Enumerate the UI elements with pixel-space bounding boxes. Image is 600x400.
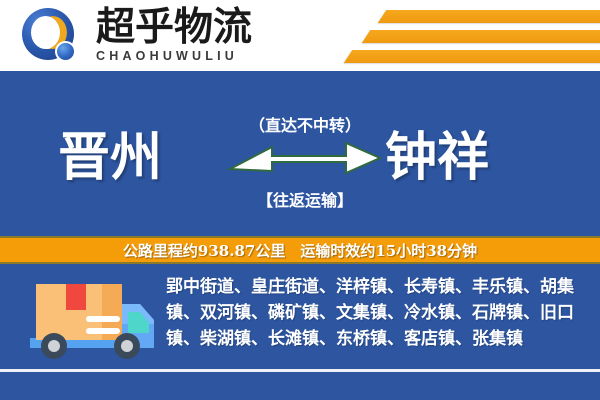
origin-city: 晋州 [58, 130, 162, 186]
coverage-areas-text: 郢中街道、皇庄街道、洋梓镇、长寿镇、丰乐镇、胡集镇、双河镇、磷矿镇、文集镇、冷水… [166, 274, 590, 352]
logo-crescent-cutout [31, 16, 60, 49]
route-section: 晋州 （直达不中转） 【往返运输】 钟祥 [0, 71, 600, 236]
destination-city: 钟祥 [385, 130, 489, 186]
brand-block: 超乎物流 CHAOHUWULIU [96, 7, 266, 63]
route-caption-bottom: 【往返运输】 [232, 187, 378, 211]
banner-header: 超乎物流 CHAOHUWULIU [0, 0, 600, 71]
brand-name-en: CHAOHUWULIU [96, 49, 266, 63]
coverage-section: 郢中街道、皇庄街道、洋梓镇、长寿镇、丰乐镇、胡集镇、双河镇、磷矿镇、文集镇、冷水… [0, 264, 600, 400]
logo-dot [55, 41, 76, 62]
circle-crescent-logo-icon [22, 8, 78, 64]
route-arrow-group: （直达不中转） 【往返运输】 [232, 112, 378, 212]
bidirectional-arrow-icon [226, 139, 384, 183]
route-info-text: 公路里程约938.87公里 运输时效约15小时38分钟 [123, 240, 477, 261]
header-stripe-2 [362, 30, 600, 43]
brand-name-cn: 超乎物流 [96, 7, 266, 48]
header-stripe-1 [378, 10, 600, 23]
route-info-bar: 公路里程约938.87公里 运输时效约15小时38分钟 [0, 236, 600, 264]
header-stripe-3 [344, 50, 600, 63]
route-caption-top: （直达不中转） [232, 112, 378, 136]
delivery-truck-icon [24, 278, 156, 366]
bottom-divider [0, 369, 600, 372]
logistics-route-banner: 超乎物流 CHAOHUWULIU 晋州 （直达不中转） 【往返运输】 钟祥 公路… [0, 0, 600, 400]
